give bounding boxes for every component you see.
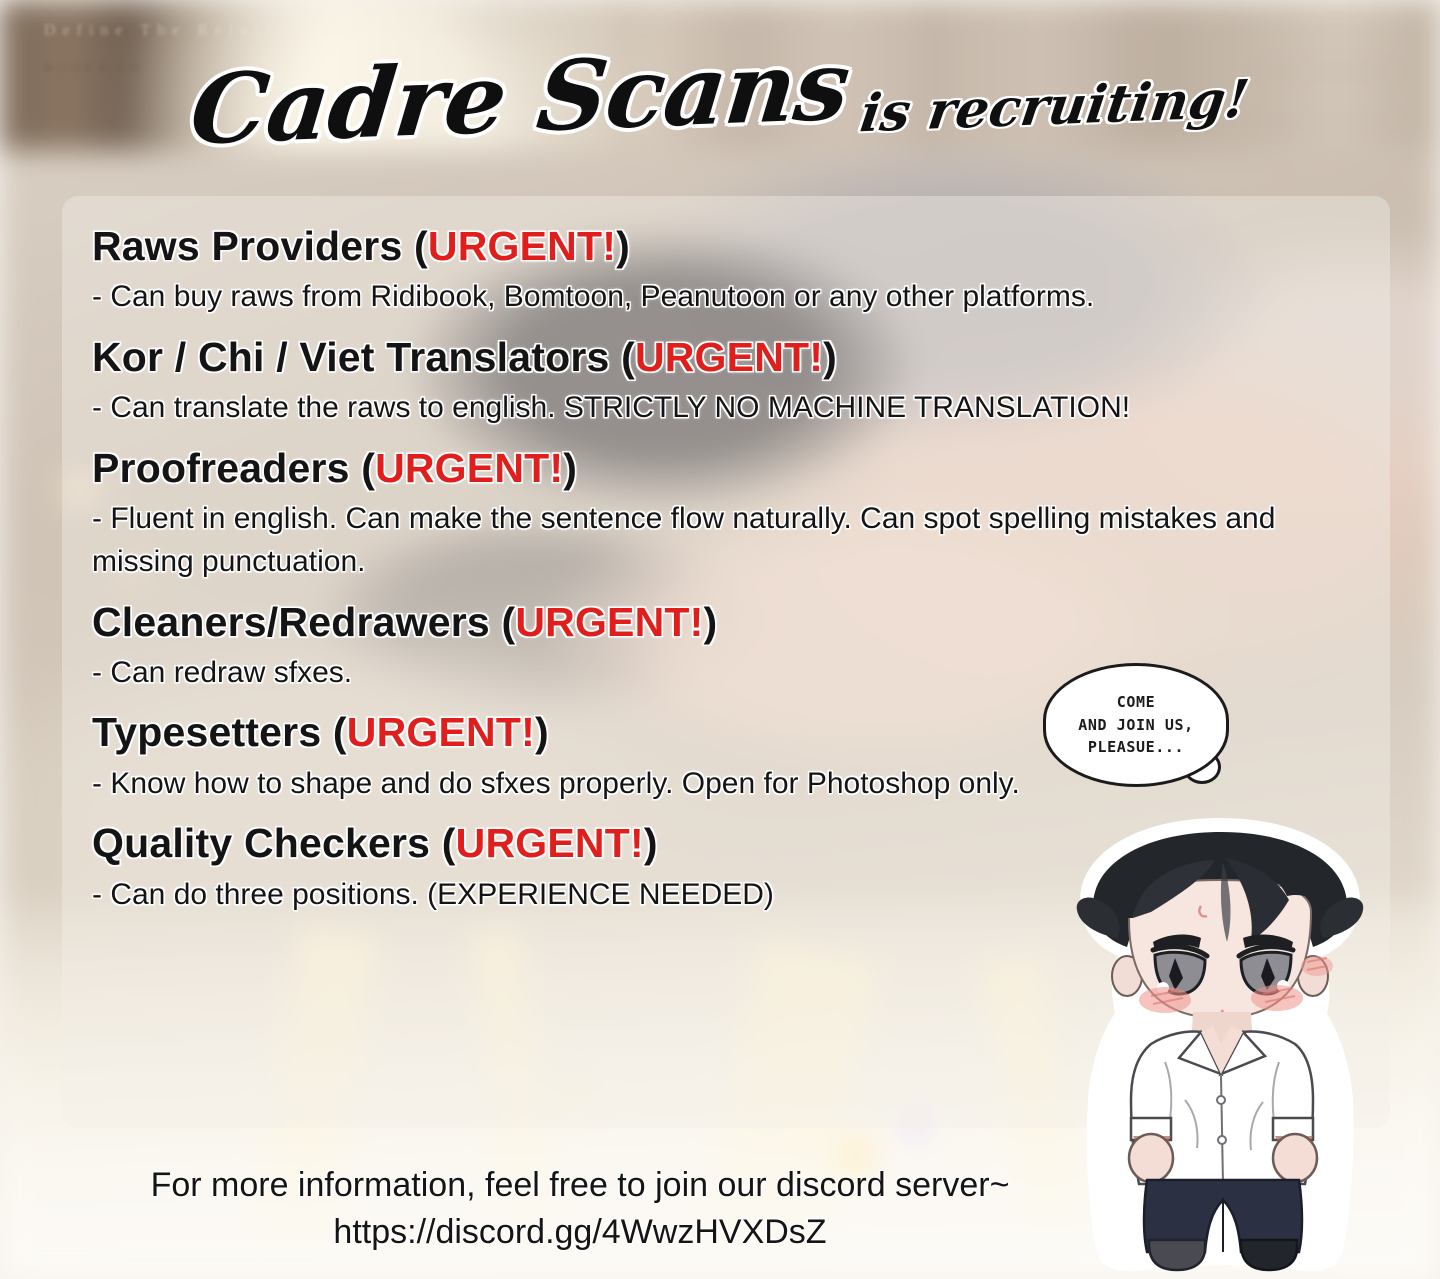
role-description: - Can translate the raws to english. STR… <box>92 387 1352 430</box>
wall-molding-line <box>1250 120 1400 124</box>
role-title: Raws Providers (URGENT!) <box>92 222 1382 270</box>
urgent-badge: URGENT! <box>635 334 823 380</box>
paren-close: ) <box>563 445 577 491</box>
role-title: Cleaners/Redrawers (URGENT!) <box>92 598 1382 646</box>
blush-left <box>1139 987 1191 1013</box>
shoe-left <box>1149 1240 1205 1270</box>
wall-molding-line <box>1250 70 1400 74</box>
paren-open: ( <box>333 709 347 755</box>
hand-right <box>1273 1134 1317 1182</box>
paren-close: ) <box>535 709 549 755</box>
speech-bubble: COME AND JOIN US, PLEASUE... <box>1043 663 1229 787</box>
paren-open: ( <box>361 445 375 491</box>
role-entry-raws-providers: Raws Providers (URGENT!) - Can buy raws … <box>92 222 1382 319</box>
watermark-title: Define The Relationship <box>44 22 362 39</box>
urgent-badge: URGENT! <box>375 445 563 491</box>
role-name: Kor / Chi / Viet Translators <box>92 334 609 380</box>
paren-close: ) <box>823 334 837 380</box>
footer-invite-text: For more information, feel free to join … <box>0 1162 1160 1209</box>
speech-bubble-text: COME AND JOIN US, PLEASUE... <box>1078 691 1194 759</box>
role-name: Proofreaders <box>92 445 350 491</box>
chibi-illustration <box>1055 800 1385 1279</box>
shoe-right <box>1241 1240 1297 1270</box>
paren-close: ) <box>616 223 630 269</box>
role-name: Cleaners/Redrawers <box>92 599 490 645</box>
role-name: Raws Providers <box>92 223 402 269</box>
role-entry-translators: Kor / Chi / Viet Translators (URGENT!) -… <box>92 333 1382 430</box>
background-watermark: Define The Relationship BOOKS.CO <box>44 22 364 75</box>
shirt-button <box>1217 1096 1225 1104</box>
paren-open: ( <box>501 599 515 645</box>
urgent-badge: URGENT! <box>347 709 535 755</box>
role-description: - Can buy raws from Ridibook, Bomtoon, P… <box>92 276 1352 319</box>
hand-left <box>1129 1134 1173 1182</box>
role-description: - Fluent in english. Can make the senten… <box>92 498 1352 583</box>
paren-close: ) <box>704 599 718 645</box>
shirt-button <box>1218 1136 1226 1144</box>
role-entry-proofreaders: Proofreaders (URGENT!) - Fluent in engli… <box>92 444 1382 584</box>
role-title: Proofreaders (URGENT!) <box>92 444 1382 492</box>
urgent-badge: URGENT! <box>428 223 616 269</box>
role-name: Typesetters <box>92 709 321 755</box>
footer: For more information, feel free to join … <box>0 1162 1160 1256</box>
paren-open: ( <box>621 334 635 380</box>
watermark-subtitle: BOOKS.CO <box>44 60 364 75</box>
urgent-badge: URGENT! <box>515 599 703 645</box>
blush-right <box>1251 985 1303 1011</box>
chibi-mascot <box>1055 800 1385 1279</box>
paren-close: ) <box>644 820 658 866</box>
paren-open: ( <box>414 223 428 269</box>
discord-link[interactable]: https://discord.gg/4WwzHVXDsZ <box>0 1209 1160 1256</box>
recruitment-poster: Define The Relationship BOOKS.CO Cadre S… <box>0 0 1440 1279</box>
urgent-badge: URGENT! <box>456 820 644 866</box>
role-name: Quality Checkers <box>92 820 430 866</box>
paren-open: ( <box>442 820 456 866</box>
role-title: Kor / Chi / Viet Translators (URGENT!) <box>92 333 1382 381</box>
